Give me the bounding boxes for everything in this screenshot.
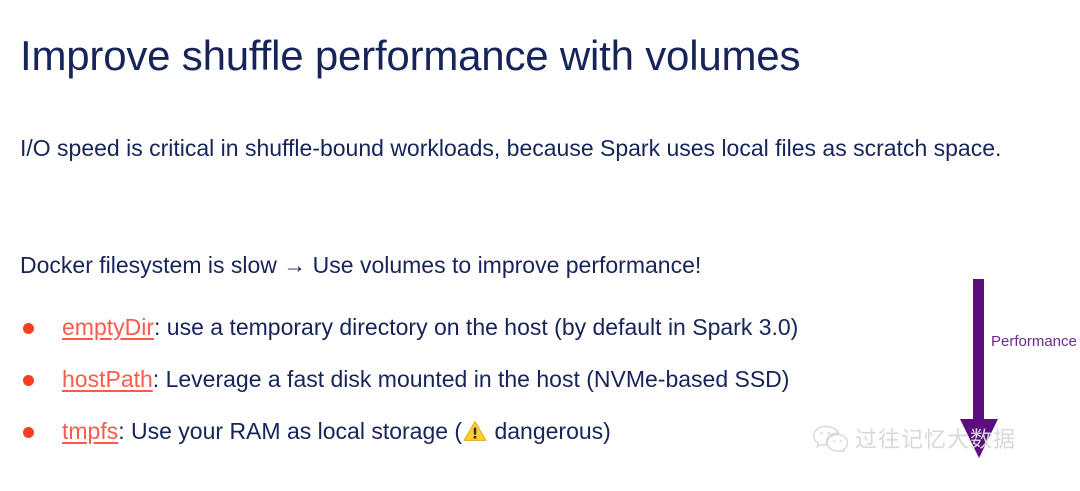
link-emptydir[interactable]: emptyDir	[62, 314, 154, 340]
list-item: emptyDir: use a temporary directory on t…	[20, 311, 980, 343]
paragraph-intro: I/O speed is critical in shuffle-bound w…	[20, 133, 1030, 164]
bullet-dot-icon	[23, 375, 34, 386]
link-tmpfs[interactable]: tmpfs	[62, 418, 118, 444]
warning-triangle-icon	[463, 418, 487, 450]
list-item: hostPath: Leverage a fast disk mounted i…	[20, 363, 980, 395]
performance-annotation-label: Performance	[991, 332, 1080, 351]
bullet-dot-icon	[23, 323, 34, 334]
paragraph-docker: Docker filesystem is slow → Use volumes …	[20, 250, 1030, 281]
volume-options-list: emptyDir: use a temporary directory on t…	[20, 311, 980, 470]
slide-canvas: Improve shuffle performance with volumes…	[0, 0, 1080, 491]
performance-down-arrow-icon	[957, 279, 1001, 459]
list-item-text-after-icon: dangerous)	[488, 418, 611, 444]
bullet-dot-icon	[23, 427, 34, 438]
page-title: Improve shuffle performance with volumes	[20, 30, 800, 82]
list-item-text: : use a temporary directory on the host …	[154, 314, 798, 340]
list-item-text: : Leverage a fast disk mounted in the ho…	[153, 366, 790, 392]
list-item-text-before-icon: : Use your RAM as local storage (	[118, 418, 462, 444]
link-hostpath[interactable]: hostPath	[62, 366, 153, 392]
list-item: tmpfs: Use your RAM as local storage ( d…	[20, 415, 980, 450]
